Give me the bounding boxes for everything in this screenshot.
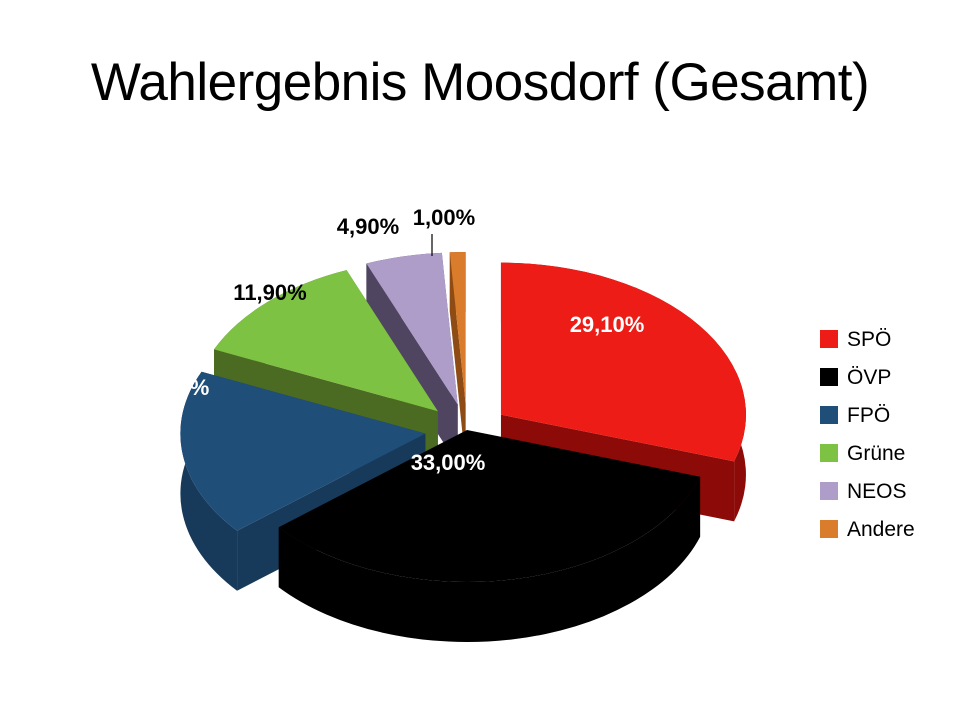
legend-item-sp[interactable]: SPÖ xyxy=(820,320,960,358)
legend-item-grne[interactable]: Grüne xyxy=(820,434,960,472)
slide-canvas: Wahlergebnis Moosdorf (Gesamt) 29,10%33,… xyxy=(0,0,960,720)
legend-swatch-icon xyxy=(820,406,838,424)
legend-item-label: SPÖ xyxy=(847,329,891,350)
legend-item-label: NEOS xyxy=(847,481,907,502)
legend-swatch-icon xyxy=(820,520,838,538)
legend-swatch-icon xyxy=(820,482,838,500)
legend-item-label: Andere xyxy=(847,519,915,540)
data-label-andere: 1,00% xyxy=(413,205,475,230)
data-label-neos: 4,90% xyxy=(337,214,399,239)
legend-item-andere[interactable]: Andere xyxy=(820,510,960,548)
pie-chart: 29,10%33,00%17,20%11,90%4,90%1,00% xyxy=(0,0,960,720)
legend-swatch-icon xyxy=(820,444,838,462)
legend-item-neos[interactable]: NEOS xyxy=(820,472,960,510)
legend-swatch-icon xyxy=(820,368,838,386)
legend-item-label: Grüne xyxy=(847,443,905,464)
legend-item-label: ÖVP xyxy=(847,367,891,388)
chart-legend: SPÖÖVPFPÖGrüneNEOSAndere xyxy=(820,320,960,548)
legend-item-fp[interactable]: FPÖ xyxy=(820,396,960,434)
legend-swatch-icon xyxy=(820,330,838,348)
legend-item-label: FPÖ xyxy=(847,405,890,426)
legend-item-vp[interactable]: ÖVP xyxy=(820,358,960,396)
